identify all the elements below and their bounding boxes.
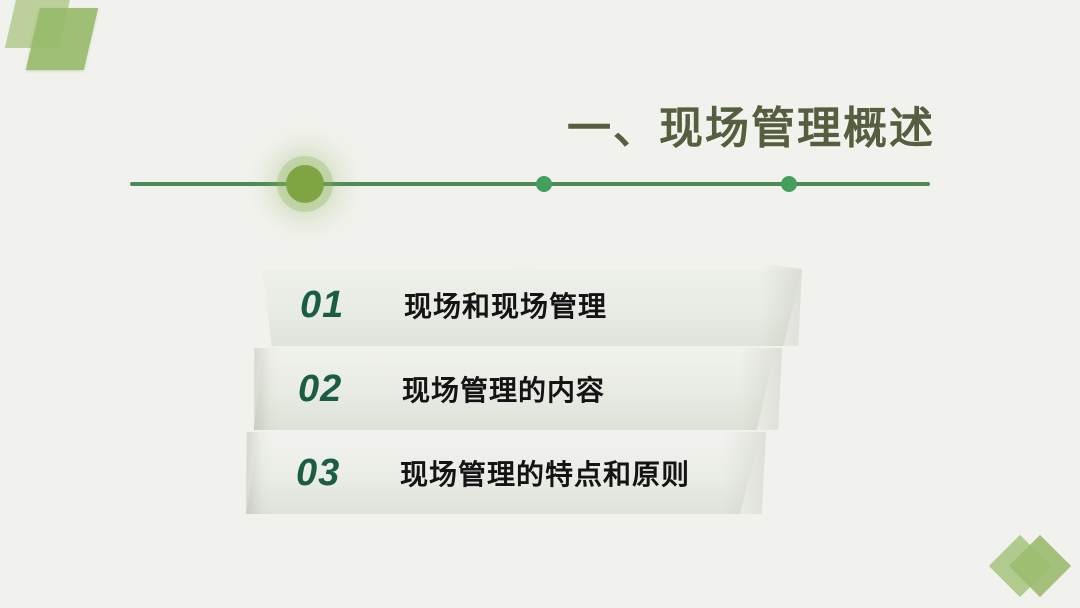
agenda-label-03: 现场管理的特点和原则 (400, 453, 690, 493)
parallelogram-back-icon (5, 0, 73, 48)
diamond-front-icon (1009, 535, 1071, 597)
panel-right-edge-shade (740, 348, 782, 430)
timeline-dot-3[interactable] (781, 176, 797, 192)
agenda-item-03[interactable]: 03 现场管理的特点和原则 (246, 432, 766, 514)
agenda-number-03: 03 (296, 452, 400, 495)
panel-right-edge-shade (760, 264, 802, 346)
decoration-bottom-right (982, 526, 1074, 606)
decoration-top-left (0, 0, 130, 95)
agenda-label-01: 现场和现场管理 (404, 285, 607, 325)
agenda-label-02: 现场管理的内容 (402, 369, 605, 409)
agenda-item-02[interactable]: 02 现场管理的内容 (254, 348, 782, 430)
agenda-item-01[interactable]: 01 现场和现场管理 (262, 264, 802, 346)
panel-right-edge-shade (724, 432, 766, 514)
timeline-dot-active[interactable] (286, 165, 324, 203)
diamond-back-icon (989, 535, 1051, 597)
agenda-number-01: 01 (300, 284, 404, 327)
timeline-divider (0, 160, 1080, 220)
parallelogram-front-icon (26, 8, 98, 70)
presentation-slide: 一、现场管理概述 01 现场和现场管理 02 现场管理的内容 (0, 0, 1080, 608)
timeline-line (130, 182, 930, 186)
slide-title: 一、现场管理概述 (515, 92, 935, 156)
agenda-number-02: 02 (298, 368, 402, 411)
timeline-dot-2[interactable] (536, 176, 552, 192)
